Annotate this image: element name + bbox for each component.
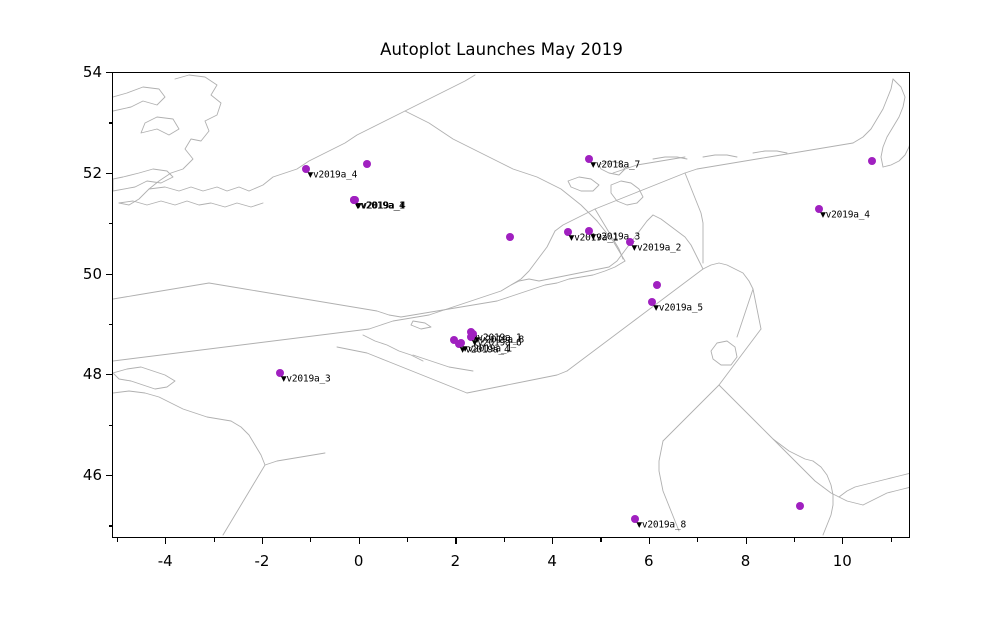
data-point-marker[interactable] xyxy=(653,281,661,289)
figure-canvas: Autoplot Launches May 2019 xyxy=(0,0,1003,633)
data-point-label: ▼v2019a_2 xyxy=(631,242,681,253)
y-axis-tick-label: 48 xyxy=(68,365,102,383)
x-axis-tick-label: -4 xyxy=(158,552,173,570)
y-axis-tick-label: 54 xyxy=(68,63,102,81)
x-axis-tick-minor xyxy=(891,538,892,542)
page-title: Autoplot Launches May 2019 xyxy=(0,40,1003,59)
x-axis-tick-minor xyxy=(600,538,601,542)
data-point-marker[interactable] xyxy=(868,157,876,165)
data-point-marker[interactable] xyxy=(506,233,514,241)
y-axis-tick-major xyxy=(106,274,112,275)
data-point-label: ▼v2018a_7 xyxy=(590,159,640,170)
x-axis-tick-minor xyxy=(310,538,311,542)
map-axes[interactable]: ▼v2019a_4▼v2019a_4▼v2019a_1▼v2019a_4▼v20… xyxy=(112,72,910,538)
data-point-label: ▼v2019a_5 xyxy=(653,303,703,314)
y-axis-tick-major xyxy=(106,475,112,476)
y-axis-tick-label: 46 xyxy=(68,466,102,484)
data-point-marker[interactable] xyxy=(363,160,371,168)
y-axis-tick-minor xyxy=(109,324,113,325)
data-point-label: ▼v2019a_4 xyxy=(307,169,357,180)
x-axis-tick-major xyxy=(552,538,553,544)
x-axis-tick-minor xyxy=(214,538,215,542)
x-axis-tick-label: 10 xyxy=(833,552,852,570)
y-axis-tick-minor xyxy=(109,122,113,123)
x-axis-tick-major xyxy=(455,538,456,544)
y-axis-tick-major xyxy=(106,72,112,73)
x-axis-tick-minor xyxy=(504,538,505,542)
x-axis-tick-minor xyxy=(697,538,698,542)
data-point-marker[interactable] xyxy=(796,502,804,510)
x-axis-tick-label: 4 xyxy=(547,552,557,570)
y-axis-tick-label: 50 xyxy=(68,265,102,283)
x-axis-tick-label: 6 xyxy=(644,552,654,570)
x-axis-tick-major xyxy=(649,538,650,544)
data-point-label: ▼v2019a_8 xyxy=(636,519,686,530)
y-axis-tick-minor xyxy=(109,525,113,526)
x-axis-tick-major xyxy=(165,538,166,544)
y-axis-tick-major xyxy=(106,374,112,375)
x-axis-tick-label: 2 xyxy=(451,552,461,570)
x-axis-tick-major xyxy=(746,538,747,544)
data-point-label: ▼v2019a_4 xyxy=(820,210,870,221)
y-axis-tick-minor xyxy=(109,223,113,224)
x-axis-tick-minor xyxy=(117,538,118,542)
x-axis-tick-major xyxy=(359,538,360,544)
x-axis-tick-label: 8 xyxy=(741,552,751,570)
y-axis-tick-major xyxy=(106,173,112,174)
x-axis-tick-label: -2 xyxy=(254,552,269,570)
x-axis-tick-major xyxy=(262,538,263,544)
data-points-layer: ▼v2019a_4▼v2019a_4▼v2019a_1▼v2019a_4▼v20… xyxy=(113,73,910,538)
y-axis-tick-label: 52 xyxy=(68,164,102,182)
data-point-label: ▼v2019a_4 xyxy=(460,345,510,356)
y-axis-tick-minor xyxy=(109,425,113,426)
x-axis-tick-minor xyxy=(794,538,795,542)
x-axis-tick-label: 0 xyxy=(354,552,364,570)
x-axis-tick-major xyxy=(842,538,843,544)
x-axis-tick-minor xyxy=(407,538,408,542)
data-point-label: ▼v2019a_4 xyxy=(356,201,406,212)
data-point-label: ▼v2019a_3 xyxy=(281,373,331,384)
